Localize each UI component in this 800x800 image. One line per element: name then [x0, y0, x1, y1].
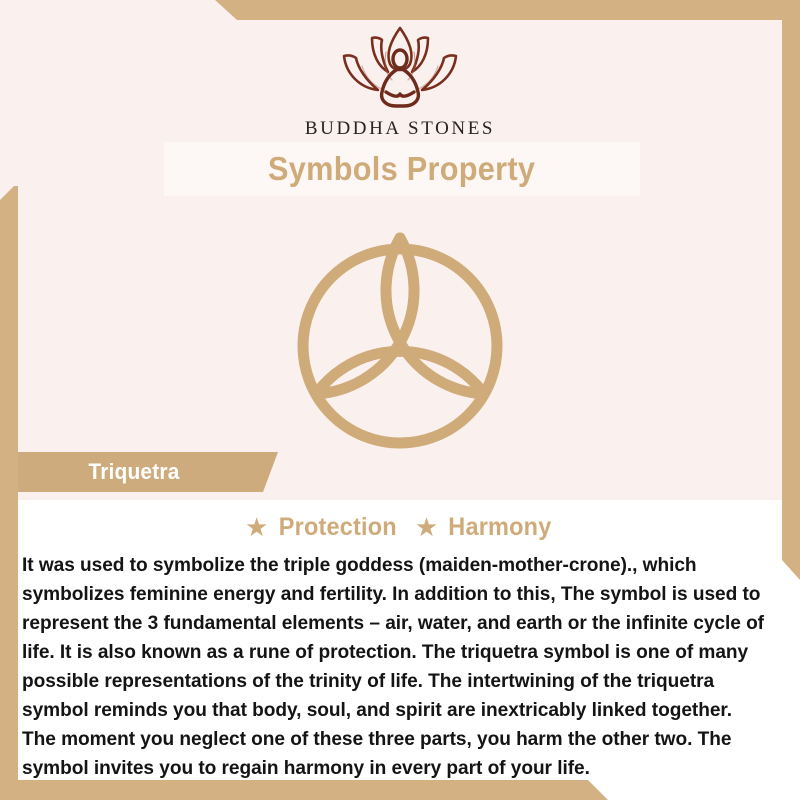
property-item-harmony: ★ Harmony	[415, 513, 555, 542]
property-label-harmony: Harmony	[449, 513, 552, 542]
property-list: ★ Protection ★ Harmony	[0, 513, 800, 542]
star-icon: ★	[245, 514, 268, 540]
symbol-name: Triquetra	[88, 459, 179, 485]
symbol-property-poster: BUDDHA STONES Symbols Property Triquetra	[0, 0, 800, 800]
symbol-illustration	[0, 214, 800, 454]
triquetra-knot-icon	[274, 214, 526, 454]
symbol-name-tag: Triquetra	[18, 452, 278, 492]
star-icon: ★	[415, 514, 438, 540]
decorative-bottom-band	[0, 780, 800, 800]
page-title: Symbols Property	[268, 150, 535, 188]
brand-logo-block: BUDDHA STONES	[0, 22, 800, 140]
lotus-meditation-figure-icon	[310, 22, 490, 114]
property-item-protection: ★ Protection	[245, 513, 401, 542]
property-label-protection: Protection	[279, 513, 397, 542]
page-title-band: Symbols Property	[164, 142, 640, 196]
brand-wordmark: BUDDHA STONES	[0, 118, 800, 140]
symbol-description: It was used to symbolize the triple godd…	[22, 551, 771, 783]
